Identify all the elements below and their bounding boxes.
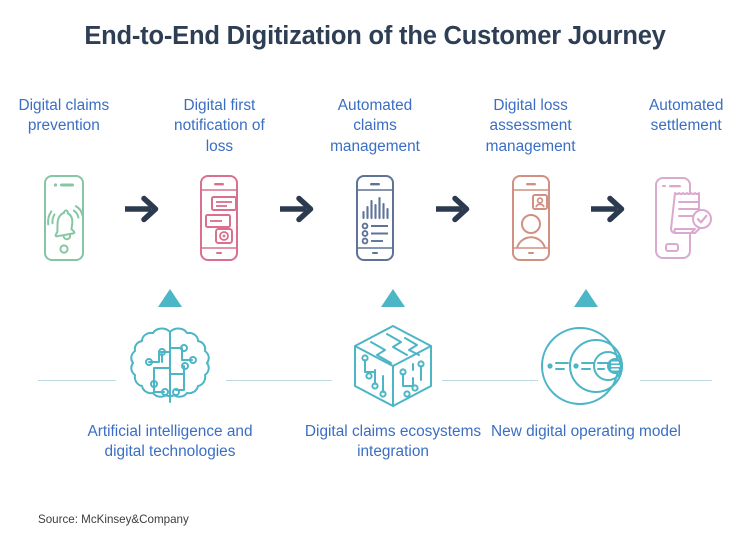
enabler-artificial-intelligence: Artificial intelligence and digital tech… [70,288,270,463]
arrow-right-icon-4 [586,96,630,286]
journey-step-automated-claims-management: Automated claims management [319,96,431,264]
journey-step-label: Digital loss assessment management [475,96,587,158]
journey-step-digital-loss-assessment-management: Digital loss assessment management [475,96,587,264]
journey-step-label: Automated settlement [630,96,742,158]
enabler-digital-claims-ecosystems: Digital claims ecosystems integration [293,288,493,463]
triangle-up-icon-1 [157,288,183,310]
journey-step-label: Digital first notification of loss [164,96,276,158]
journey-step-label: Digital claims prevention [8,96,120,158]
phone-form-camera-icon [191,172,247,264]
phone-receipt-check-icon [650,172,722,264]
journey-step-digital-claims-prevention: Digital claims prevention [8,96,120,264]
arrow-right-icon-1 [120,96,164,286]
concentric-circles-icon [538,320,634,412]
arrow-right-icon-3 [431,96,475,286]
arrow-right-icon-2 [275,96,319,286]
journey-step-digital-first-notification-of-loss: Digital first notification of loss [164,96,276,264]
triangle-up-icon-2 [380,288,406,310]
cube-circuit-icon [347,320,439,412]
enabler-row: Artificial intelligence and digital tech… [0,288,750,500]
page-title: End-to-End Digitization of the Customer … [0,22,750,51]
phone-chart-list-icon [347,172,403,264]
phone-bell-icon [36,172,92,264]
phone-video-call-icon [503,172,559,264]
journey-step-automated-settlement: Automated settlement [630,96,742,264]
enabler-label: Digital claims ecosystems integration [293,422,493,463]
enabler-label: New digital operating model [491,422,681,442]
journey-step-label: Automated claims management [319,96,431,158]
enabler-label: Artificial intelligence and digital tech… [70,422,270,463]
enabler-new-digital-operating-model: New digital operating model [486,288,686,442]
source-note: Source: McKinsey&Company [38,513,189,526]
journey-row: Digital claims prevention Digita [8,96,742,286]
triangle-up-icon-3 [573,288,599,310]
ai-brain-circuit-icon [124,320,216,412]
